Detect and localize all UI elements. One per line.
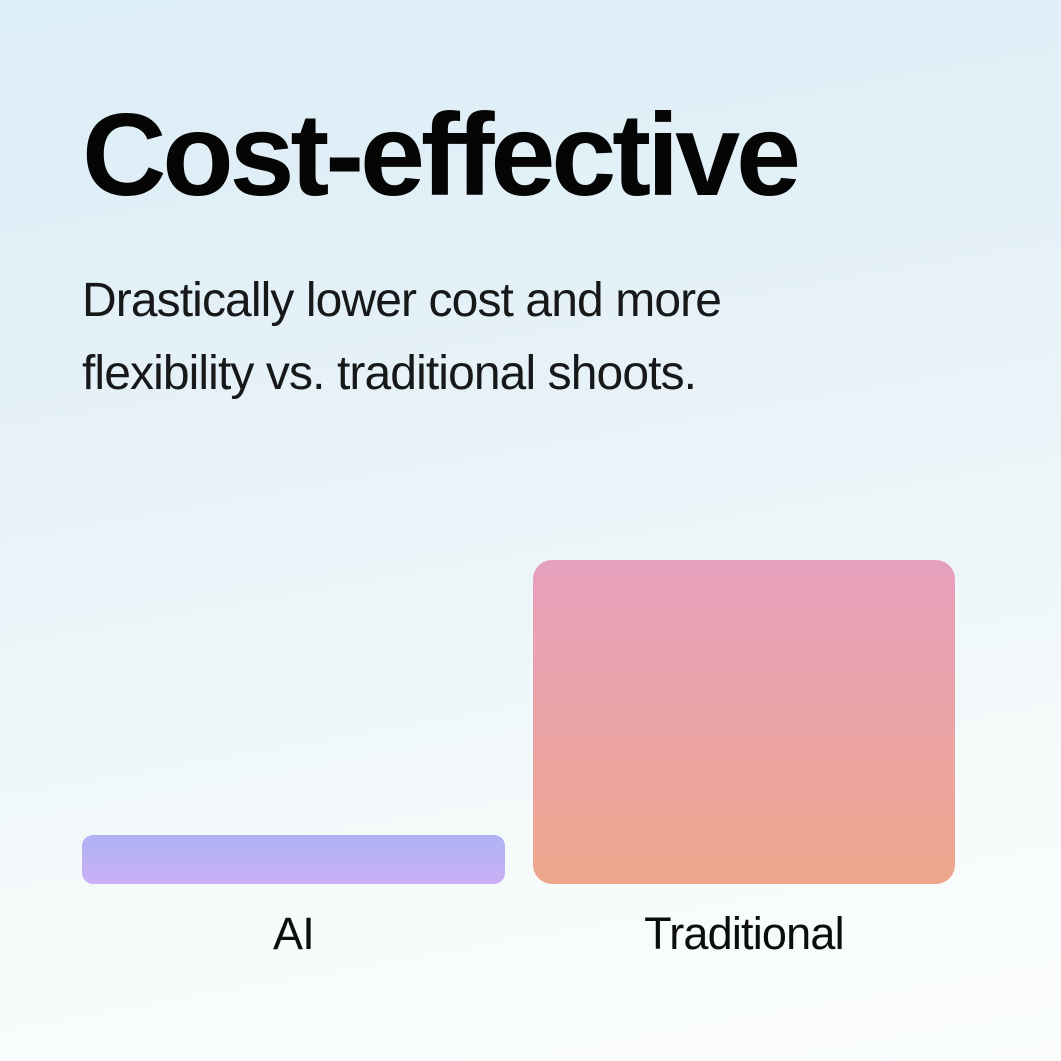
cost-comparison-bar-chart: AI Traditional xyxy=(0,0,1061,1061)
chart-plot-area xyxy=(82,560,955,884)
bar-group-ai xyxy=(82,560,505,884)
bar-label-ai: AI xyxy=(82,908,505,960)
bar-label-traditional: Traditional xyxy=(533,908,955,960)
bar-traditional xyxy=(533,560,955,884)
bar-group-traditional xyxy=(533,560,955,884)
cost-effective-card: Cost-effective Drastically lower cost an… xyxy=(0,0,1061,1061)
bar-ai xyxy=(82,835,505,884)
